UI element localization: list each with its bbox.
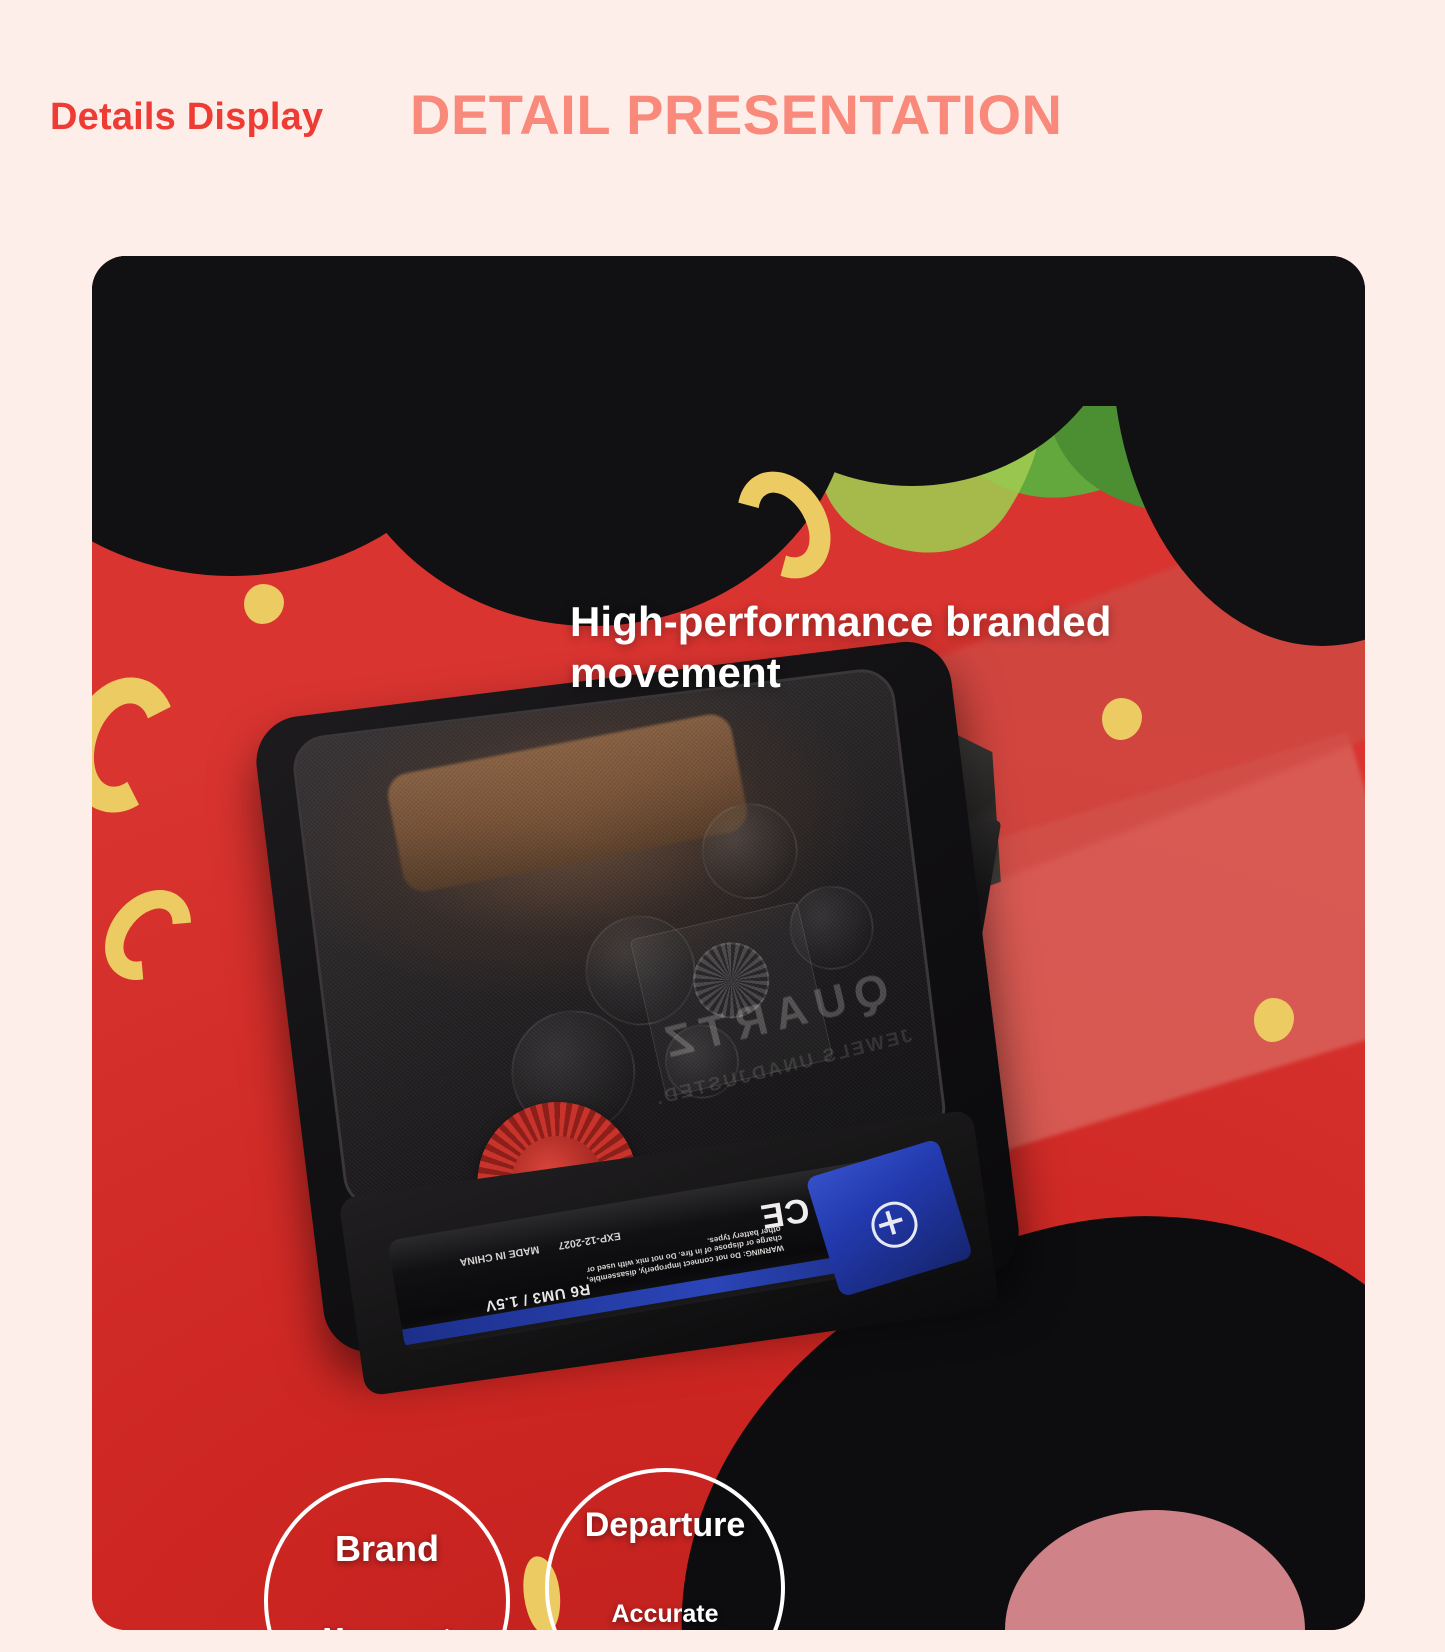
- page-header: Details Display DETAIL PRESENTATION: [0, 0, 1445, 230]
- badge-1-title: Brand: [268, 1528, 506, 1570]
- page-subtitle: DETAIL PRESENTATION: [410, 82, 1063, 147]
- gear-1: [579, 909, 702, 1032]
- sun-lion-logo-icon: [689, 938, 774, 1023]
- battery-label-expiry: EXP-12-2027: [557, 1228, 621, 1251]
- badge-1-subtitle: Movement: [268, 1622, 506, 1630]
- quartz-embossed-text: QUARTZ: [464, 964, 893, 1117]
- badge-2-title: Departure: [549, 1506, 781, 1545]
- logo-plate: [630, 901, 834, 1098]
- badge-2-subtitle: Accurate: [549, 1600, 781, 1629]
- gear-3: [785, 881, 879, 975]
- gear-5: [661, 1020, 743, 1102]
- copper-coil: [384, 711, 750, 896]
- gear-2: [696, 798, 803, 905]
- cap-blob-4: [1112, 256, 1365, 646]
- battery-plus-terminal-icon: [866, 1196, 923, 1253]
- photo-overlay-title: High-performance branded movement: [570, 596, 1270, 698]
- product-photo-panel: QUARTZ JEWELS UNADJUSTED. CE R6 UM3 / 1.…: [92, 256, 1365, 1630]
- battery-label-origin: MADE IN CHINA: [459, 1242, 541, 1268]
- page-title: Details Display: [50, 96, 323, 139]
